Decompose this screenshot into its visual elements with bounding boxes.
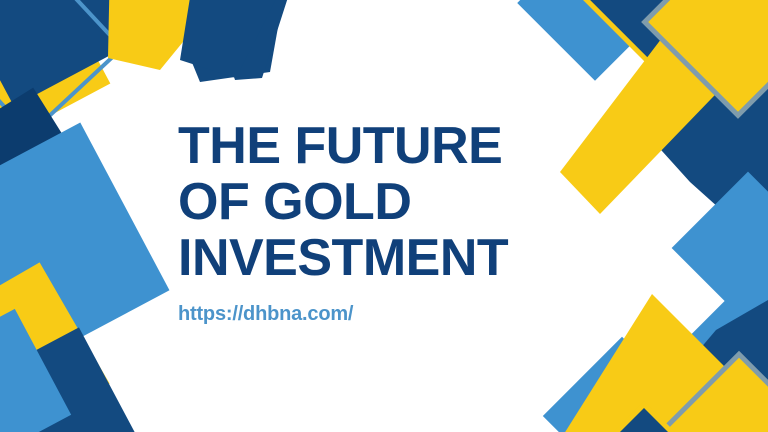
shape-right-blue-diamond-lower [672, 278, 768, 431]
shape-bottom-left-navy-square [0, 327, 145, 432]
title-slide: THE FUTURE OF GOLD INVESTMENT https://dh… [0, 0, 768, 432]
shape-left-blue-large-square [0, 123, 169, 380]
shape-top-left-navy-square [0, 0, 146, 106]
page-title: THE FUTURE OF GOLD INVESTMENT [178, 118, 598, 286]
shape-top-right-yellow-diamond-gray-outline [645, 0, 768, 115]
shape-top-right-navy-diamond-yellow-outline [568, 0, 735, 64]
shape-right-blue-diamond-upper [672, 172, 768, 325]
shape-top-left-blue-outlined-square [0, 0, 122, 134]
shape-bottom-right-blue-diamond [543, 337, 701, 432]
shape-left-navy-square [0, 88, 90, 237]
website-url[interactable]: https://dhbna.com/ [178, 286, 598, 326]
shape-bottom-right-navy-field [600, 300, 768, 432]
shape-bottom-right-navy-diamond-yellow-outline [570, 404, 717, 432]
shape-top-center-navy-bar [150, 0, 300, 82]
shape-top-left-yellow-wedge [108, 0, 250, 70]
shape-bottom-right-yellow-diamond-gray-outline [644, 354, 768, 432]
shape-bottom-left-blue-square-lower [0, 309, 71, 432]
shape-top-right-blue-diamond [517, 0, 673, 81]
shape-top-left-yellow-square [0, 0, 110, 148]
title-block: THE FUTURE OF GOLD INVESTMENT https://dh… [178, 118, 598, 326]
shape-bottom-left-yellow-square [0, 262, 110, 432]
shape-top-left-navy-wedge [180, 0, 296, 78]
shape-right-navy-field [634, 0, 768, 252]
